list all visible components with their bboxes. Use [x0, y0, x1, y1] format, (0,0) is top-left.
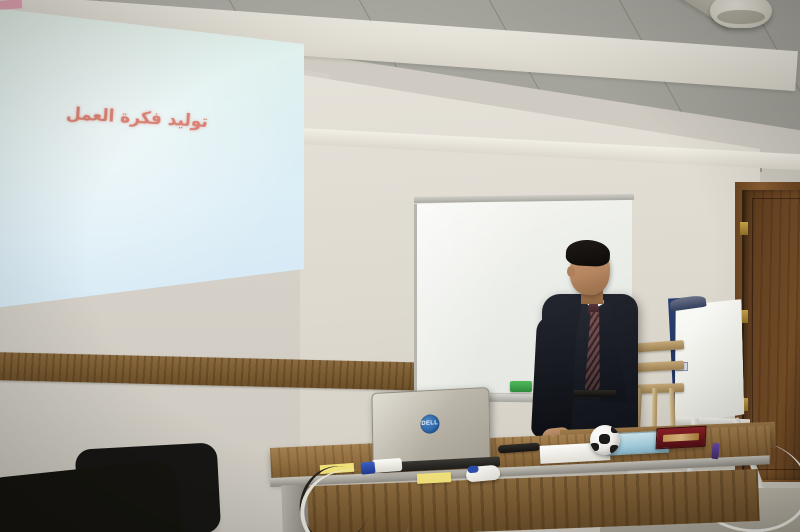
green-chair[interactable]: [0, 467, 176, 532]
dell-logo-icon: DELL: [420, 414, 439, 434]
classroom-photo: توليد فكرة العمل: [0, 0, 800, 532]
power-adapter[interactable]: [372, 458, 403, 473]
laptop-lid[interactable]: DELL: [371, 387, 490, 469]
pink-note[interactable]: [0, 0, 22, 10]
door-hinge-icon: [740, 222, 748, 235]
soccer-ball[interactable]: [590, 425, 620, 455]
projected-slide: [0, 8, 304, 308]
sticky-note[interactable]: [417, 472, 451, 484]
arm: [531, 315, 577, 439]
projector-glow: [0, 8, 304, 308]
hair: [565, 239, 610, 267]
belt: [574, 390, 616, 397]
computer-mouse[interactable]: [465, 465, 500, 483]
ceiling-fan-icon: [710, 0, 772, 28]
red-box[interactable]: [655, 426, 706, 450]
ear: [567, 266, 575, 277]
